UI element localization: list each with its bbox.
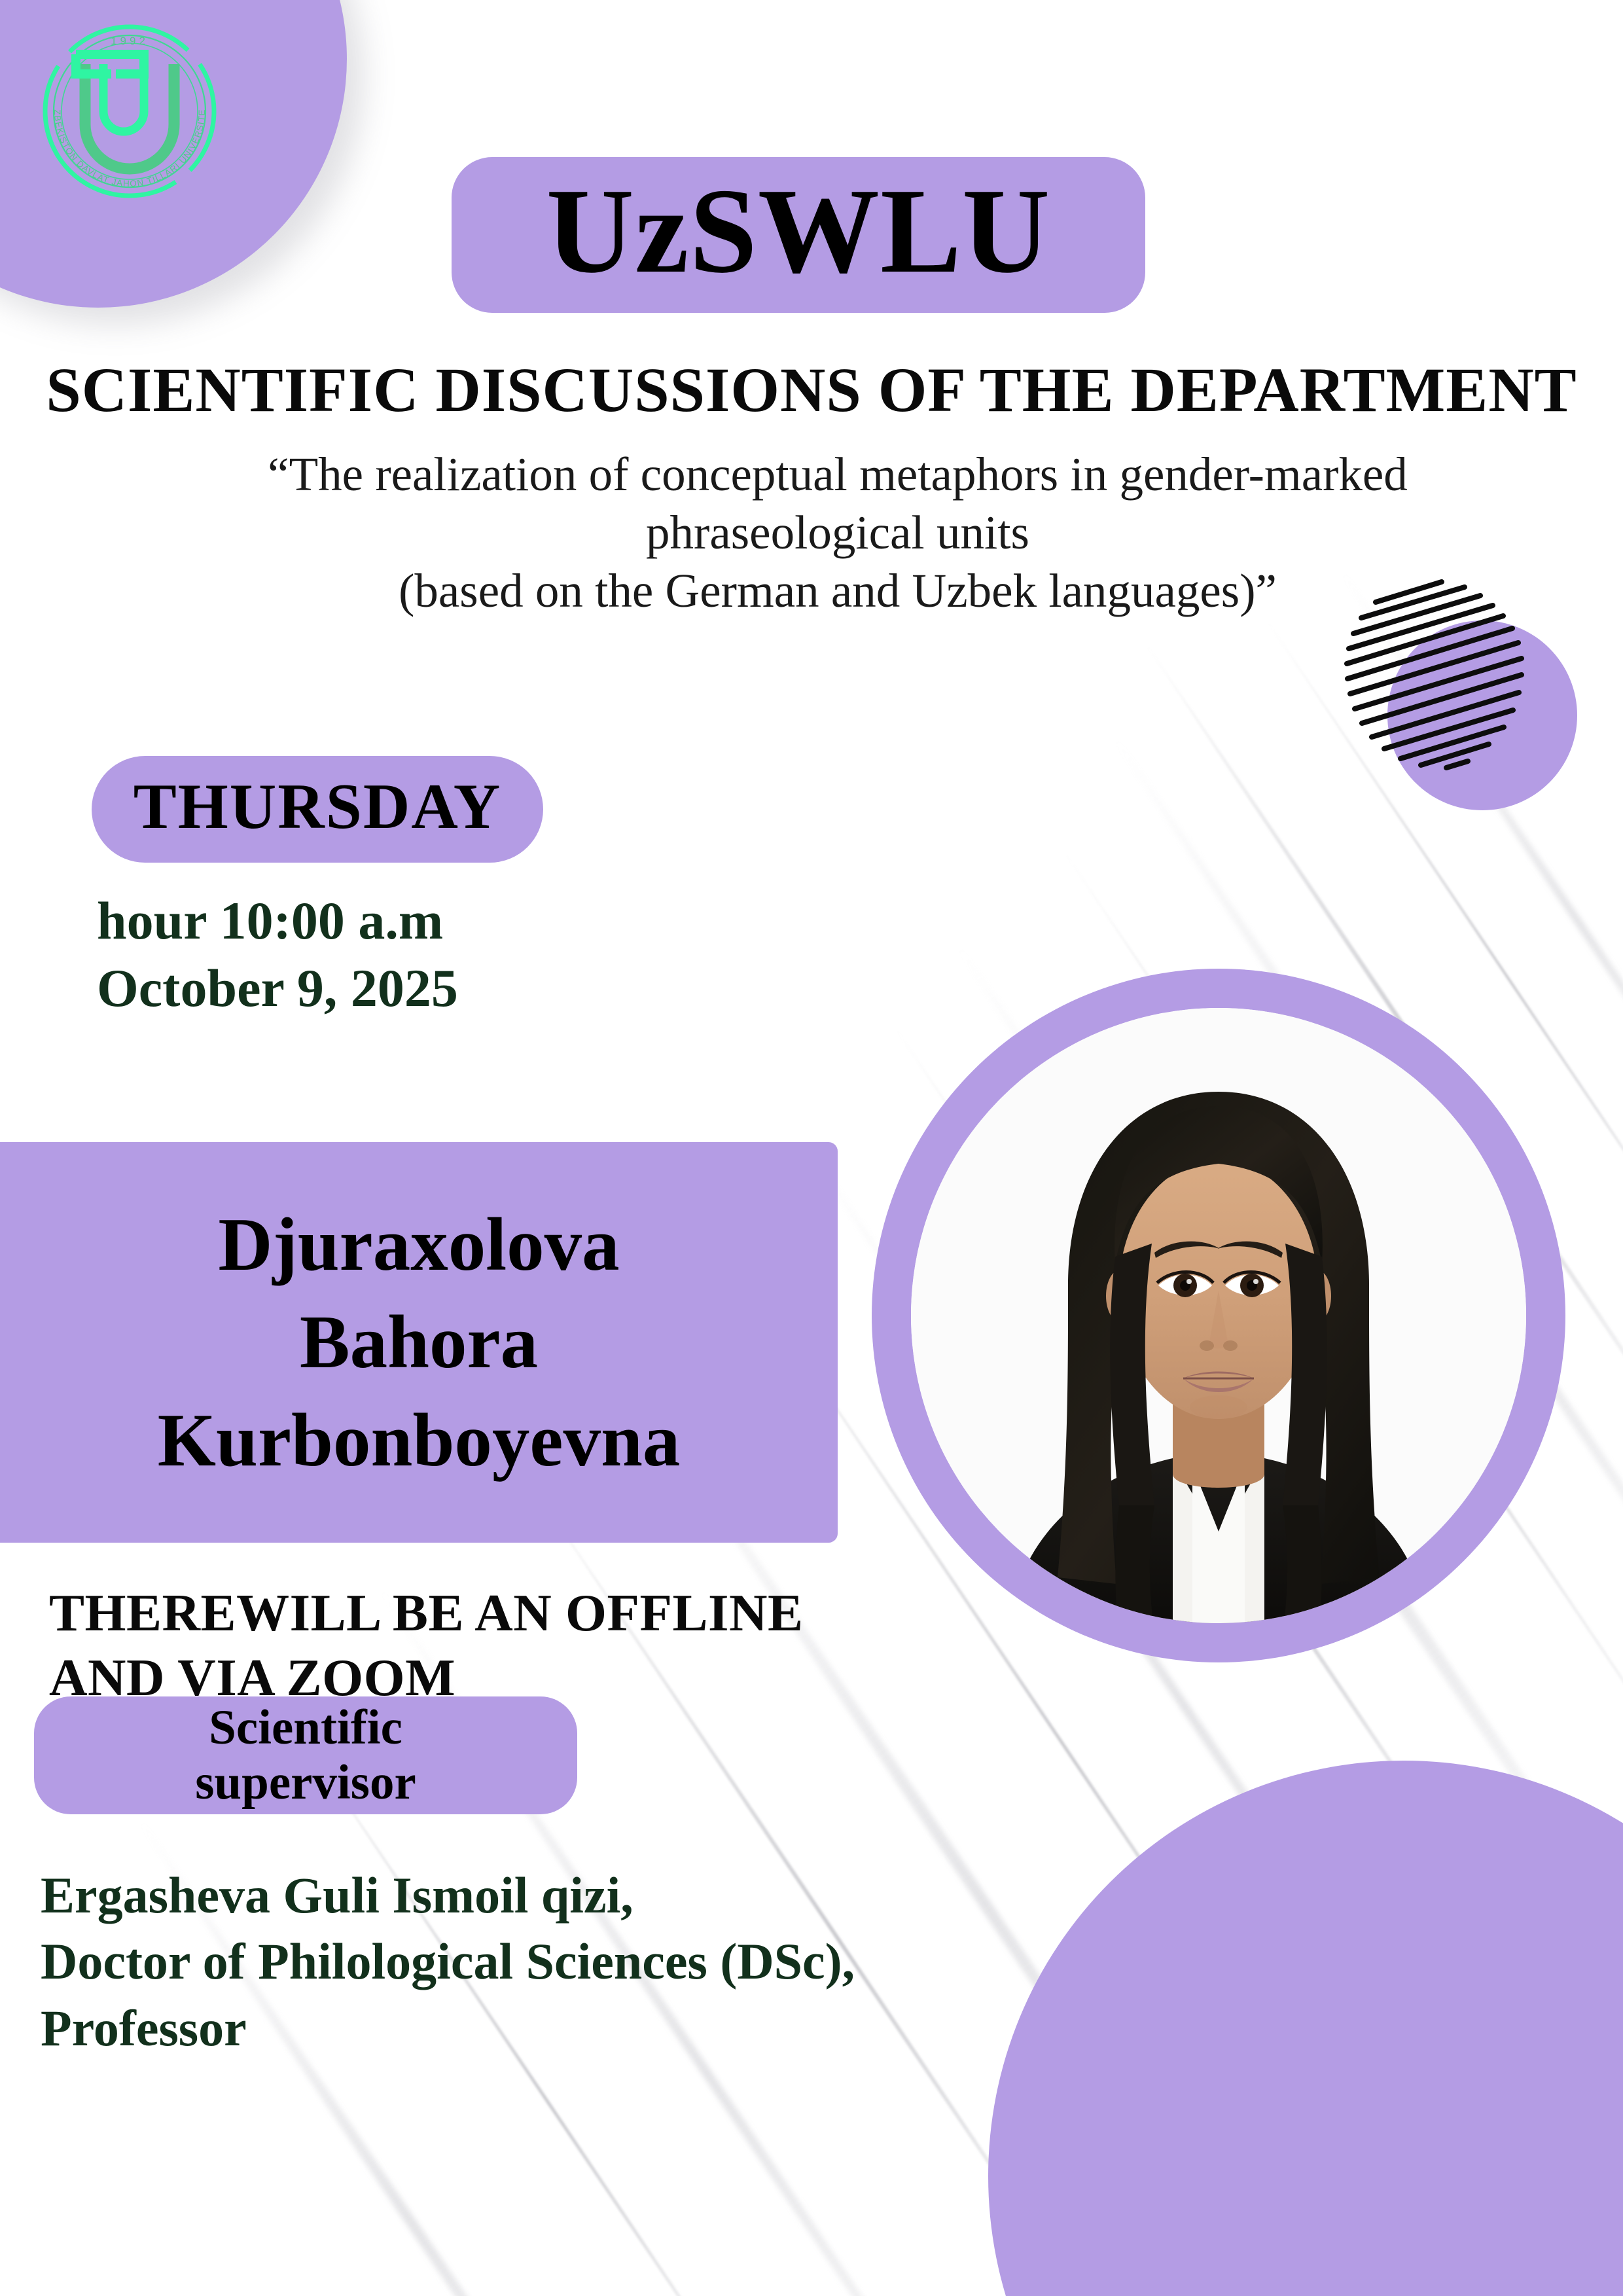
poster-title-pill: UzSWLU bbox=[452, 157, 1145, 313]
subtitle-line-1: “The realization of conceptual metaphors… bbox=[249, 445, 1427, 562]
decorative-circle-bottom-right bbox=[988, 1761, 1623, 2296]
supervisor-degree: Doctor of Philological Sciences (DSc), bbox=[41, 1928, 855, 1994]
event-datetime: hour 10:00 a.m October 9, 2025 bbox=[97, 887, 458, 1022]
supervisor-label-badge: Scientific supervisor bbox=[34, 1696, 577, 1814]
speaker-name-line-3: Kurbonboyevna bbox=[158, 1391, 681, 1490]
event-format-notice: THEREWILL BE AN OFFLINE AND VIA ZOOM bbox=[49, 1581, 804, 1710]
speaker-name-line-2: Bahora bbox=[300, 1293, 538, 1391]
supervisor-details: Ergasheva Guli Ismoil qizi, Doctor of Ph… bbox=[41, 1862, 855, 2061]
supervisor-label-line-2: supervisor bbox=[195, 1755, 416, 1810]
day-label: THURSDAY bbox=[134, 774, 501, 839]
page-title: UzSWLU bbox=[546, 170, 1051, 292]
event-time: hour 10:00 a.m bbox=[97, 887, 458, 954]
university-logo-icon: 1992 O'ZBEKISTON DAVLAT JAHON TILLARI UN… bbox=[31, 13, 228, 209]
speaker-name-line-1: Djuraxolova bbox=[218, 1196, 619, 1294]
speaker-name-banner: Djuraxolova Bahora Kurbonboyevna bbox=[0, 1142, 838, 1543]
speaker-portrait bbox=[911, 1008, 1526, 1623]
supervisor-name: Ergasheva Guli Ismoil qizi, bbox=[41, 1862, 855, 1928]
format-line-1: THEREWILL BE AN OFFLINE bbox=[49, 1581, 804, 1645]
supervisor-rank: Professor bbox=[41, 1995, 855, 2061]
headline: SCIENTIFIC DISCUSSIONS OF THE DEPARTMENT bbox=[0, 353, 1623, 426]
speaker-portrait-ring bbox=[872, 969, 1565, 1662]
supervisor-label-line-1: Scientific bbox=[209, 1700, 402, 1755]
day-badge: THURSDAY bbox=[92, 756, 543, 863]
event-date: October 9, 2025 bbox=[97, 954, 458, 1022]
subtitle-block: “The realization of conceptual metaphors… bbox=[249, 445, 1427, 620]
event-poster: 1992 O'ZBEKISTON DAVLAT JAHON TILLARI UN… bbox=[0, 0, 1623, 2296]
subtitle-line-2: (based on the German and Uzbek languages… bbox=[249, 562, 1427, 620]
svg-text:1992: 1992 bbox=[111, 35, 149, 47]
